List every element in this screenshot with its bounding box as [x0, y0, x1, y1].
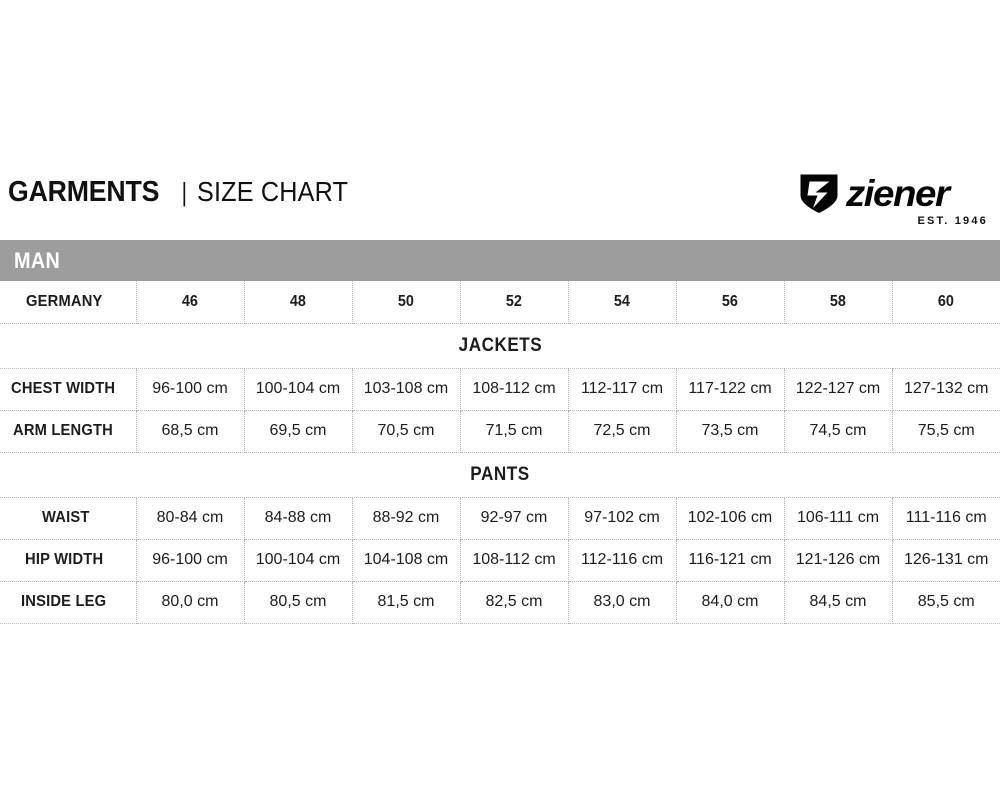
gender-band-label: MAN	[14, 248, 60, 274]
measure-value: 116-121 cm	[676, 539, 784, 581]
section-header-cell: PANTS	[0, 452, 1000, 497]
measure-value: 106-111 cm	[784, 497, 892, 539]
measure-value: 81,5 cm	[352, 581, 460, 623]
size-header-cell: 56	[676, 281, 784, 323]
measure-label-cell: WAIST	[0, 497, 136, 539]
page-title: GARMENTS | SIZE CHART	[8, 168, 365, 209]
size-header-cell: 60	[892, 281, 1000, 323]
measure-value: 108-112 cm	[460, 368, 568, 410]
measure-label: CHEST WIDTH	[11, 380, 115, 398]
size-label: 48	[290, 293, 306, 311]
measure-label-cell: CHEST WIDTH	[0, 368, 136, 410]
page-header: GARMENTS | SIZE CHART ziener EST. 1946	[0, 168, 1000, 240]
measure-value: 73,5 cm	[676, 410, 784, 452]
table-row: HIP WIDTH 96-100 cm 100-104 cm 104-108 c…	[0, 539, 1000, 581]
ziener-shield-icon	[796, 170, 842, 216]
size-header-cell: 58	[784, 281, 892, 323]
measure-value: 84-88 cm	[244, 497, 352, 539]
country-label: GERMANY	[26, 293, 103, 311]
size-chart-body: GERMANY 46 48 50 52 54 56 58 60 JACKETS …	[0, 281, 1000, 623]
logo-row: ziener	[796, 172, 992, 214]
measure-value: 80,5 cm	[244, 581, 352, 623]
page-title-light: SIZE CHART	[197, 176, 348, 208]
measure-value: 71,5 cm	[460, 410, 568, 452]
measure-value: 108-112 cm	[460, 539, 568, 581]
table-row: INSIDE LEG 80,0 cm 80,5 cm 81,5 cm 82,5 …	[0, 581, 1000, 623]
brand-logo: ziener EST. 1946	[796, 168, 992, 228]
measure-value: 74,5 cm	[784, 410, 892, 452]
measure-value: 103-108 cm	[352, 368, 460, 410]
measure-value: 111-116 cm	[892, 497, 1000, 539]
size-header-cell: 50	[352, 281, 460, 323]
measure-value: 102-106 cm	[676, 497, 784, 539]
measure-value: 82,5 cm	[460, 581, 568, 623]
measure-label-cell: INSIDE LEG	[0, 581, 136, 623]
measure-value: 127-132 cm	[892, 368, 1000, 410]
section-header-row: PANTS	[0, 452, 1000, 497]
table-row: CHEST WIDTH 96-100 cm 100-104 cm 103-108…	[0, 368, 1000, 410]
measure-value: 85,5 cm	[892, 581, 1000, 623]
measure-label: INSIDE LEG	[21, 593, 106, 611]
size-label: 46	[182, 293, 198, 311]
measure-value: 96-100 cm	[136, 368, 244, 410]
measure-value: 80,0 cm	[136, 581, 244, 623]
size-header-cell: 54	[568, 281, 676, 323]
logo-wordmark: ziener	[846, 175, 948, 212]
size-label: 52	[506, 293, 522, 311]
logo-established: EST. 1946	[796, 215, 992, 227]
measure-value: 112-117 cm	[568, 368, 676, 410]
size-header-cell: 46	[136, 281, 244, 323]
size-label: 58	[830, 293, 846, 311]
measure-value: 104-108 cm	[352, 539, 460, 581]
measure-value: 75,5 cm	[892, 410, 1000, 452]
measure-value: 92-97 cm	[460, 497, 568, 539]
measure-label-cell: HIP WIDTH	[0, 539, 136, 581]
section-header-cell: JACKETS	[0, 323, 1000, 368]
section-header-row: JACKETS	[0, 323, 1000, 368]
section-title: JACKETS	[458, 335, 542, 357]
country-label-cell: GERMANY	[0, 281, 136, 323]
measure-value: 117-122 cm	[676, 368, 784, 410]
size-header-cell: 52	[460, 281, 568, 323]
measure-value: 88-92 cm	[352, 497, 460, 539]
measure-value: 80-84 cm	[136, 497, 244, 539]
size-header-cell: 48	[244, 281, 352, 323]
measure-label: WAIST	[42, 509, 90, 527]
table-row: ARM LENGTH 68,5 cm 69,5 cm 70,5 cm 71,5 …	[0, 410, 1000, 452]
measure-value: 97-102 cm	[568, 497, 676, 539]
size-label: 56	[722, 293, 738, 311]
measure-value: 70,5 cm	[352, 410, 460, 452]
measure-value: 69,5 cm	[244, 410, 352, 452]
measure-value: 121-126 cm	[784, 539, 892, 581]
measure-value: 126-131 cm	[892, 539, 1000, 581]
size-label: 50	[398, 293, 414, 311]
gender-band: MAN	[0, 240, 1000, 281]
measure-label: HIP WIDTH	[25, 551, 103, 569]
measure-value: 84,5 cm	[784, 581, 892, 623]
measure-label: ARM LENGTH	[13, 422, 113, 440]
section-title: PANTS	[470, 464, 529, 486]
table-row: WAIST 80-84 cm 84-88 cm 88-92 cm 92-97 c…	[0, 497, 1000, 539]
size-header-row: GERMANY 46 48 50 52 54 56 58 60	[0, 281, 1000, 323]
page-title-separator: |	[182, 177, 187, 208]
size-label: 60	[938, 293, 954, 311]
size-label: 54	[614, 293, 630, 311]
measure-value: 83,0 cm	[568, 581, 676, 623]
size-chart-table: GERMANY 46 48 50 52 54 56 58 60 JACKETS …	[0, 281, 1000, 624]
measure-label-cell: ARM LENGTH	[0, 410, 136, 452]
measure-value: 122-127 cm	[784, 368, 892, 410]
measure-value: 112-116 cm	[568, 539, 676, 581]
measure-value: 100-104 cm	[244, 368, 352, 410]
measure-value: 96-100 cm	[136, 539, 244, 581]
measure-value: 100-104 cm	[244, 539, 352, 581]
size-chart-page: GARMENTS | SIZE CHART ziener EST. 1946 M…	[0, 0, 1000, 800]
page-title-strong: GARMENTS	[8, 176, 159, 209]
size-chart-table-wrapper: MAN GERMANY 46 48 50 52 54 56 58 60 JACK…	[0, 240, 1000, 624]
measure-value: 68,5 cm	[136, 410, 244, 452]
measure-value: 72,5 cm	[568, 410, 676, 452]
measure-value: 84,0 cm	[676, 581, 784, 623]
